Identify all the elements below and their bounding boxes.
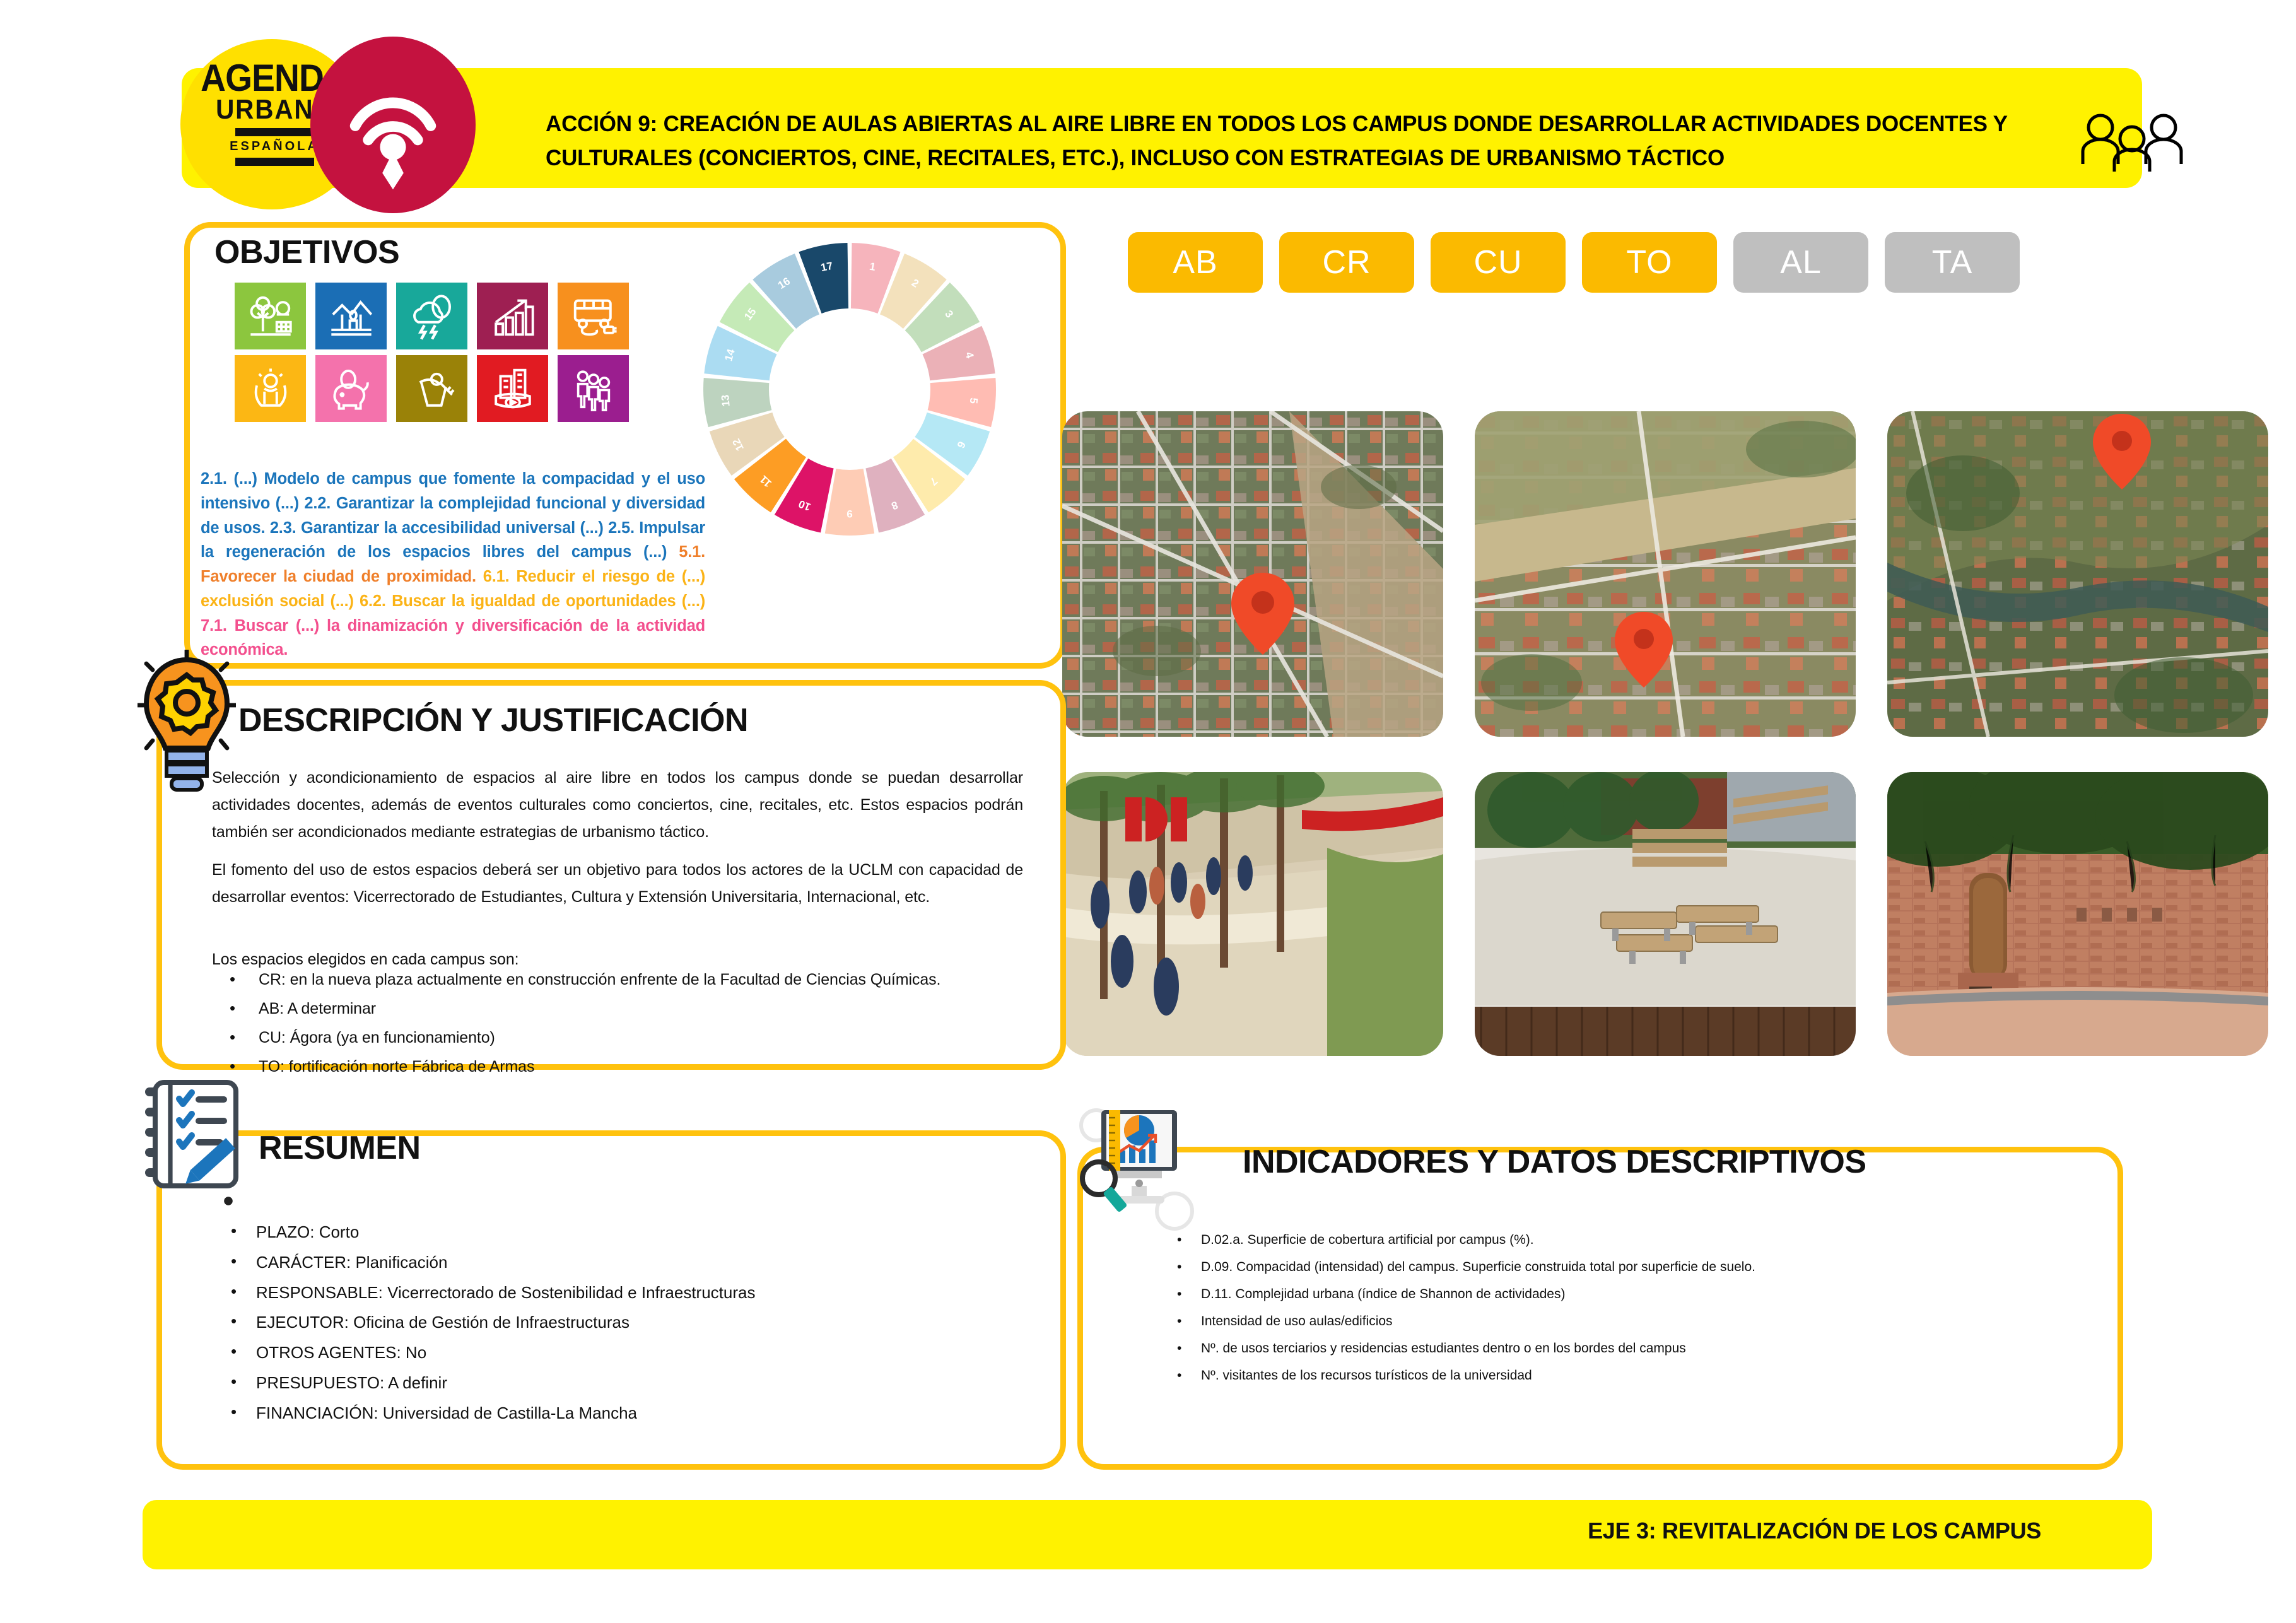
checklist-notebook-icon <box>140 1080 254 1214</box>
list-item: PLAZO: Corto <box>212 1217 1019 1248</box>
house-keys-icon <box>396 355 467 422</box>
descripcion-paragraph-2: El fomento del uso de estos espacios deb… <box>212 857 1023 911</box>
campus-tag-cr[interactable]: CR <box>1279 232 1414 293</box>
campus-tag-cu[interactable]: CU <box>1431 232 1566 293</box>
objetivo-segment-blue: 2.1. (...) Modelo de campus que fomente … <box>201 470 705 561</box>
list-item: CARÁCTER: Planificación <box>212 1248 1019 1278</box>
campus-tag-ta[interactable]: TA <box>1885 232 2020 293</box>
campus-tag-al[interactable]: AL <box>1733 232 1868 293</box>
satellite-map-campus-2 <box>1475 411 1856 737</box>
indicadores-title: INDICADORES Y DATOS DESCRIPTIVOS <box>1243 1143 1866 1181</box>
storm-cloud-icon <box>396 283 467 349</box>
satellite-map-campus-1 <box>1062 411 1443 737</box>
resumen-list: PLAZO: Corto CARÁCTER: Planificación RES… <box>212 1217 1019 1429</box>
objetivo-segment-pink: 7.1. Buscar (...) la dinamización y dive… <box>201 617 705 659</box>
list-item: AB: A determinar <box>212 995 1026 1022</box>
logo-divider-bottom <box>235 158 314 166</box>
sdg-wheel-icon: 1234567891011121314151617 <box>701 241 998 537</box>
logo-divider-top <box>235 128 314 136</box>
list-item: Intensidad de uso aulas/edificios <box>1159 1308 2055 1335</box>
piggy-bank-icon <box>315 355 387 422</box>
list-item: FINANCIACIÓN: Universidad de Castilla-La… <box>212 1398 1019 1429</box>
campus-tag-ab[interactable]: AB <box>1128 232 1263 293</box>
objetivos-text: 2.1. (...) Modelo de campus que fomente … <box>201 467 705 662</box>
tree-park-icon <box>235 283 306 349</box>
objetivos-title: OBJETIVOS <box>214 233 399 271</box>
photo-muro-fabrica-armas <box>1887 772 2268 1056</box>
monitor-charts-magnifier-icon <box>1076 1108 1202 1234</box>
photo-agora-escenario <box>1475 772 1856 1056</box>
hands-idea-icon <box>235 355 306 422</box>
satellite-map-campus-3 <box>1887 411 2268 737</box>
sdg-number-9: 9 <box>846 508 852 520</box>
three-people-icon <box>2075 111 2189 175</box>
list-item: Nº. de usos terciarios y residencias est… <box>1159 1335 2055 1362</box>
indicadores-list: D.02.a. Superficie de cobertura artifici… <box>1159 1226 2055 1389</box>
list-item: D.02.a. Superficie de cobertura artifici… <box>1159 1226 2055 1253</box>
campus-tag-to[interactable]: TO <box>1582 232 1717 293</box>
objetivos-icon-grid <box>235 283 629 422</box>
list-item: Nº. visitantes de los recursos turístico… <box>1159 1362 2055 1389</box>
list-item: TO: fortificación norte Fábrica de Armas <box>212 1053 1026 1081</box>
list-item: RESPONSABLE: Vicerrectorado de Sostenibi… <box>212 1278 1019 1308</box>
descripcion-title: DESCRIPCIÓN Y JUSTIFICACIÓN <box>238 701 748 739</box>
descripcion-campus-list: CR: en la nueva plaza actualmente en con… <box>212 966 1026 1082</box>
photo-plaza-gradas-uclm <box>1062 772 1443 1056</box>
list-item: PRESUPUESTO: A definir <box>212 1368 1019 1398</box>
electric-bus-icon <box>558 283 629 349</box>
list-item: D.11. Complejidad urbana (índice de Shan… <box>1159 1280 2055 1308</box>
people-group-icon <box>558 355 629 422</box>
sdg-number-5: 5 <box>968 397 980 404</box>
list-item: D.09. Compacidad (intensidad) del campus… <box>1159 1253 2055 1280</box>
bar-chart-growth-icon <box>477 283 548 349</box>
rocket-signal-icon <box>310 37 476 213</box>
page-title: ACCIÓN 9: CREACIÓN DE AULAS ABIERTAS AL … <box>546 107 2034 176</box>
sdg-segment-9 <box>825 469 874 536</box>
resumen-title: RESUMEN <box>259 1129 421 1167</box>
descripcion-paragraph-1: Selección y acondicionamiento de espacio… <box>212 765 1023 846</box>
list-item: CR: en la nueva plaza actualmente en con… <box>212 966 1026 993</box>
list-item: OTROS AGENTES: No <box>212 1338 1019 1368</box>
footer-eje-label: EJE 3: REVITALIZACIÓN DE LOS CAMPUS <box>1588 1518 2041 1544</box>
logo-line-espanola: ESPAÑOLA <box>230 139 319 154</box>
city-buildings-icon <box>477 355 548 422</box>
sdg-number-13: 13 <box>719 394 732 407</box>
sdg-number-17: 17 <box>820 260 834 274</box>
campus-tag-list: AB CR CU TO AL TA <box>1128 232 2020 293</box>
list-item: CU: Ágora (ya en funcionamiento) <box>212 1024 1026 1052</box>
houses-icon <box>315 283 387 349</box>
list-item: EJECUTOR: Oficina de Gestión de Infraest… <box>212 1308 1019 1338</box>
